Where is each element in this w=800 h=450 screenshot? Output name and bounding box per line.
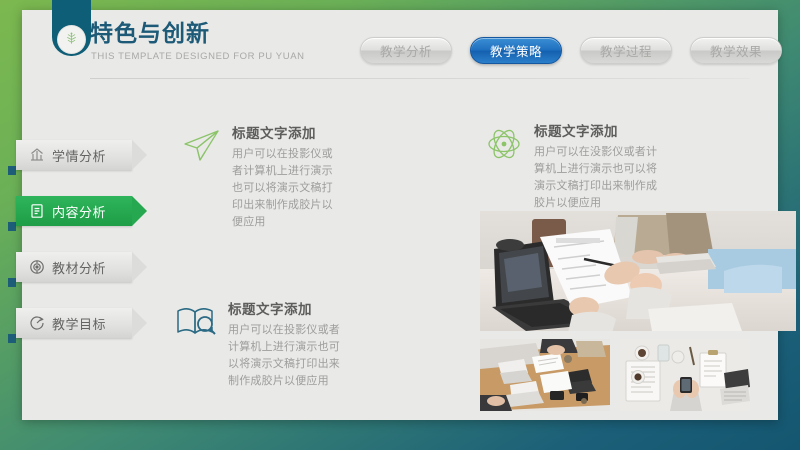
page-title: 特色与创新 [90,22,210,45]
goal-clock-icon [29,315,45,331]
logo-ribbon [52,0,91,56]
desk-overhead-phone-photo [620,339,750,411]
desk-overhead-team-photo [480,339,610,411]
book-search-icon [174,298,218,390]
content-block-3: 标题文字添加 用户可以在投影仪或者计算机上进行演示也可以将演示文稿打印出来制作成… [174,298,349,390]
tab-jiaoxue-fenxi[interactable]: 教学分析 [360,37,452,64]
document-icon [29,203,45,219]
sidebar-tab-notch [8,222,16,231]
tab-jiaoxue-celue[interactable]: 教学策略 [470,37,562,64]
tab-jiaoxue-xiaoguo[interactable]: 教学效果 [690,37,782,64]
page-subtitle: THIS TEMPLATE DESIGNED FOR PU YUAN [91,51,305,62]
block-title: 标题文字添加 [232,122,340,142]
sidebar-item-label: 教学目标 [52,314,106,333]
sidebar-tab-notch [8,334,16,343]
sidebar-item-label: 教材分析 [52,258,106,277]
atom-icon [484,120,524,212]
meeting-reviewing-document-photo [480,211,796,331]
sidebar-item-xueqing-fenxi[interactable]: 学情分析 [8,140,148,170]
leaf-emblem-icon [63,31,80,48]
sidebar-tab-notch [8,166,16,175]
bar-chart-icon [29,147,45,163]
sidebar-tab-notch [8,278,16,287]
slide-canvas: 特色与创新 THIS TEMPLATE DESIGNED FOR PU YUAN… [22,10,778,420]
tab-jiaoxue-guocheng[interactable]: 教学过程 [580,37,672,64]
content-block-1: 标题文字添加 用户可以在投影仪或者计算机上进行演示也可以将演示文稿打印出来制作成… [180,122,340,231]
block-title: 标题文字添加 [534,120,662,140]
block-title: 标题文字添加 [228,298,349,318]
block-body: 用户可以在没影仪或者计算机上进行演示也可以将演示文稿打印出来制作成胶片以便应用 [534,144,662,212]
content-block-2: 标题文字添加 用户可以在没影仪或者计算机上进行演示也可以将演示文稿打印出来制作成… [484,120,664,212]
header-divider [90,78,750,79]
sidebar-item-neirong-fenxi[interactable]: 内容分析 [8,196,148,226]
top-nav: 教学分析 教学策略 教学过程 教学效果 [360,37,782,64]
paper-plane-icon [180,122,222,231]
sidebar-item-label: 学情分析 [52,146,106,165]
logo-circle [57,25,86,54]
block-body: 用户可以在投影仪或者计算机上进行演示也可以将演示文稿打印出来制作成胶片以便应用 [228,322,349,390]
block-body: 用户可以在投影仪或者计算机上进行演示也可以将演示文稿打印出来制作成胶片以便应用 [232,146,340,231]
target-icon [29,259,45,275]
sidebar-item-label: 内容分析 [52,202,106,221]
sidebar-item-jiaoxue-mubiao[interactable]: 教学目标 [8,308,148,338]
sidebar: 学情分析 内容分析 [8,140,148,364]
sidebar-item-jiaocai-fenxi[interactable]: 教材分析 [8,252,148,282]
